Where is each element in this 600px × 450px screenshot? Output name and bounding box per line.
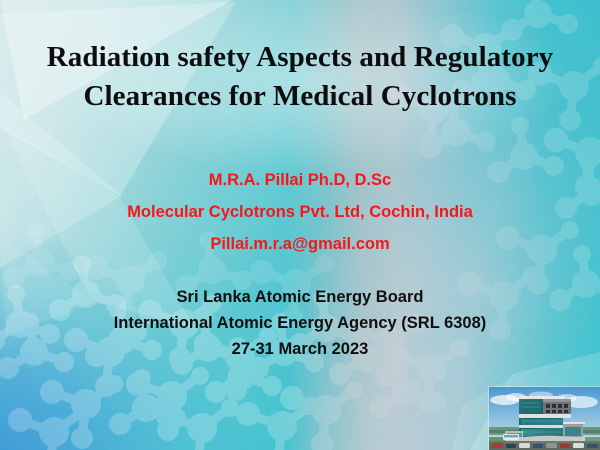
- event-dates: 27-31 March 2023: [0, 336, 600, 362]
- title-line-1: Radiation safety Aspects and Regulatory: [0, 38, 600, 77]
- author-name: M.R.A. Pillai Ph.D, D.Sc: [0, 164, 600, 196]
- page-title: Radiation safety Aspects and Regulatory …: [0, 38, 600, 116]
- author-affiliation: Molecular Cyclotrons Pvt. Ltd, Cochin, I…: [0, 196, 600, 228]
- event-organizer: International Atomic Energy Agency (SRL …: [0, 310, 600, 336]
- event-host: Sri Lanka Atomic Energy Board: [0, 284, 600, 310]
- title-line-2: Clearances for Medical Cyclotrons: [0, 77, 600, 116]
- title-slide: Radiation safety Aspects and Regulatory …: [0, 0, 600, 450]
- slide-text-layer: Radiation safety Aspects and Regulatory …: [0, 0, 600, 450]
- event-block: Sri Lanka Atomic Energy Board Internatio…: [0, 284, 600, 362]
- author-email: Pillai.m.r.a@gmail.com: [0, 228, 600, 260]
- author-block: M.R.A. Pillai Ph.D, D.Sc Molecular Cyclo…: [0, 164, 600, 260]
